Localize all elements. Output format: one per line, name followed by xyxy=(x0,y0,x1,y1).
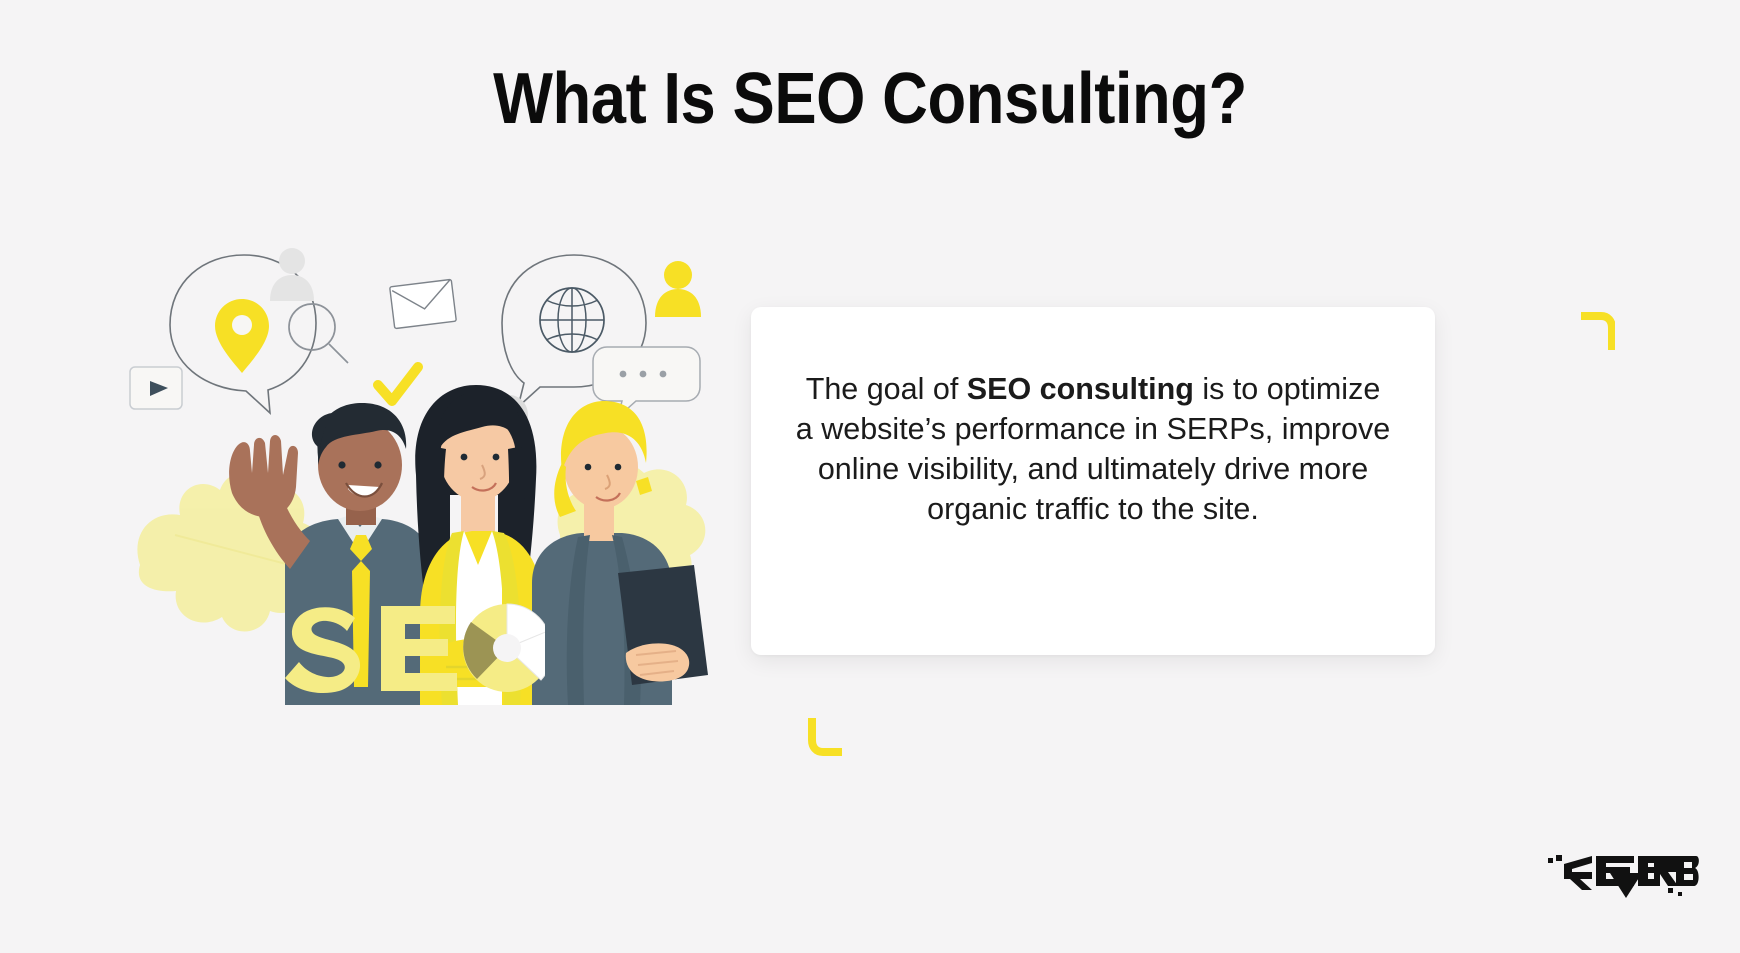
envelope-icon xyxy=(390,279,457,328)
card-text-emphasis: SEO consulting xyxy=(967,372,1194,406)
info-card: The goal of SEO consulting is to optimiz… xyxy=(751,307,1435,655)
card-text-lead: The goal of xyxy=(806,372,967,406)
info-card-text: The goal of SEO consulting is to optimiz… xyxy=(793,369,1393,529)
user-avatar-gray xyxy=(270,248,314,301)
page-title: What Is SEO Consulting? xyxy=(104,58,1635,140)
seo-word-mark xyxy=(285,600,545,695)
reverb-logo xyxy=(1548,848,1700,898)
checkmark-icon xyxy=(378,367,418,401)
corner-bracket-bottom-left xyxy=(808,718,842,758)
magnifier-icon xyxy=(289,304,348,363)
play-button-icon xyxy=(130,367,182,409)
pie-chart-icon xyxy=(463,604,545,692)
corner-bracket-top-right xyxy=(1581,310,1615,350)
user-avatar-yellow xyxy=(655,261,701,317)
infographic-slide: What Is SEO Consulting? xyxy=(0,0,1740,953)
